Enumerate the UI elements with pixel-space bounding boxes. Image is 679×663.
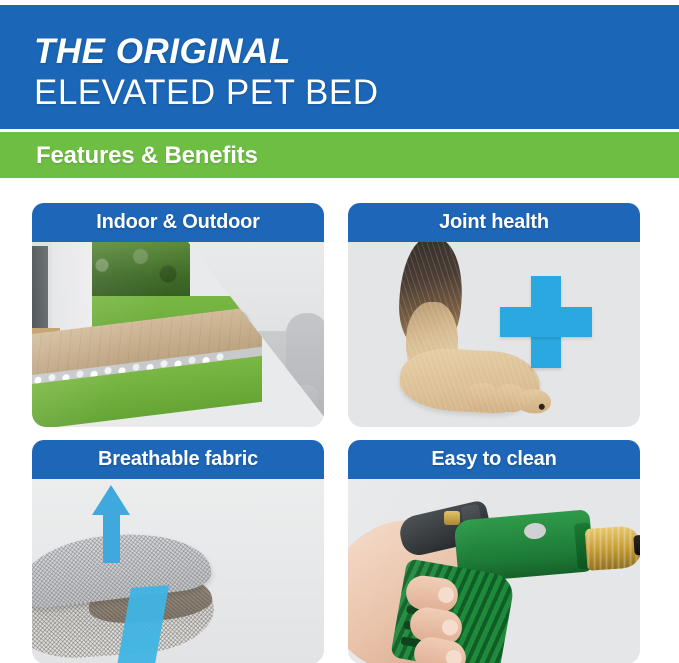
hero-text-block: THE ORIGINAL ELEVATED PET BED (0, 5, 679, 113)
hero-title-line1: THE ORIGINAL (34, 33, 679, 71)
nozzle-opening (633, 534, 640, 555)
tree-foliage (80, 242, 190, 300)
feature-title-indoor-outdoor: Indoor & Outdoor (96, 211, 259, 234)
hero-banner: THE ORIGINAL ELEVATED PET BED (0, 5, 679, 129)
paw-illustration (348, 242, 640, 427)
medical-cross-icon (500, 276, 592, 368)
airflow-arrow-up-icon (92, 485, 130, 561)
feature-card-header: Easy to clean (348, 440, 640, 479)
feature-card-indoor-outdoor: Indoor & Outdoor (32, 203, 324, 427)
brass-nozzle-tip (585, 525, 640, 571)
glass-door (32, 246, 48, 328)
features-grid: Indoor & Outdoor (32, 203, 648, 663)
indoor-outdoor-illustration (32, 242, 324, 427)
section-bar: Features & Benefits (0, 132, 679, 178)
paw-toe (516, 389, 551, 415)
mesh-illustration (32, 479, 324, 663)
infographic-page: THE ORIGINAL ELEVATED PET BED Features &… (0, 0, 679, 663)
paw-claw (539, 404, 545, 410)
fingernail (437, 586, 455, 604)
fingernail (441, 618, 460, 637)
feature-title-breathable-fabric: Breathable fabric (98, 448, 258, 471)
stucco-wall (52, 242, 92, 332)
feature-image-joint-health (348, 242, 640, 427)
feature-image-easy-to-clean (348, 479, 640, 663)
section-bar-label: Features & Benefits (0, 132, 679, 169)
feature-title-easy-to-clean: Easy to clean (431, 448, 556, 471)
feature-card-header: Breathable fabric (32, 440, 324, 479)
feature-title-joint-health: Joint health (439, 211, 549, 234)
hose-nozzle-illustration (348, 479, 640, 663)
feature-card-header: Indoor & Outdoor (32, 203, 324, 242)
brass-screw (444, 511, 460, 525)
feature-image-breathable-fabric (32, 479, 324, 663)
feature-card-breathable-fabric: Breathable fabric (32, 440, 324, 663)
feature-card-header: Joint health (348, 203, 640, 242)
fingernail (444, 648, 463, 663)
feature-card-joint-health: Joint health (348, 203, 640, 427)
hero-title-line2: ELEVATED PET BED (34, 73, 679, 113)
house-wall (32, 242, 90, 338)
arrow-shaft (103, 511, 120, 563)
feature-image-indoor-outdoor (32, 242, 324, 427)
feature-card-easy-to-clean: Easy to clean (348, 440, 640, 663)
